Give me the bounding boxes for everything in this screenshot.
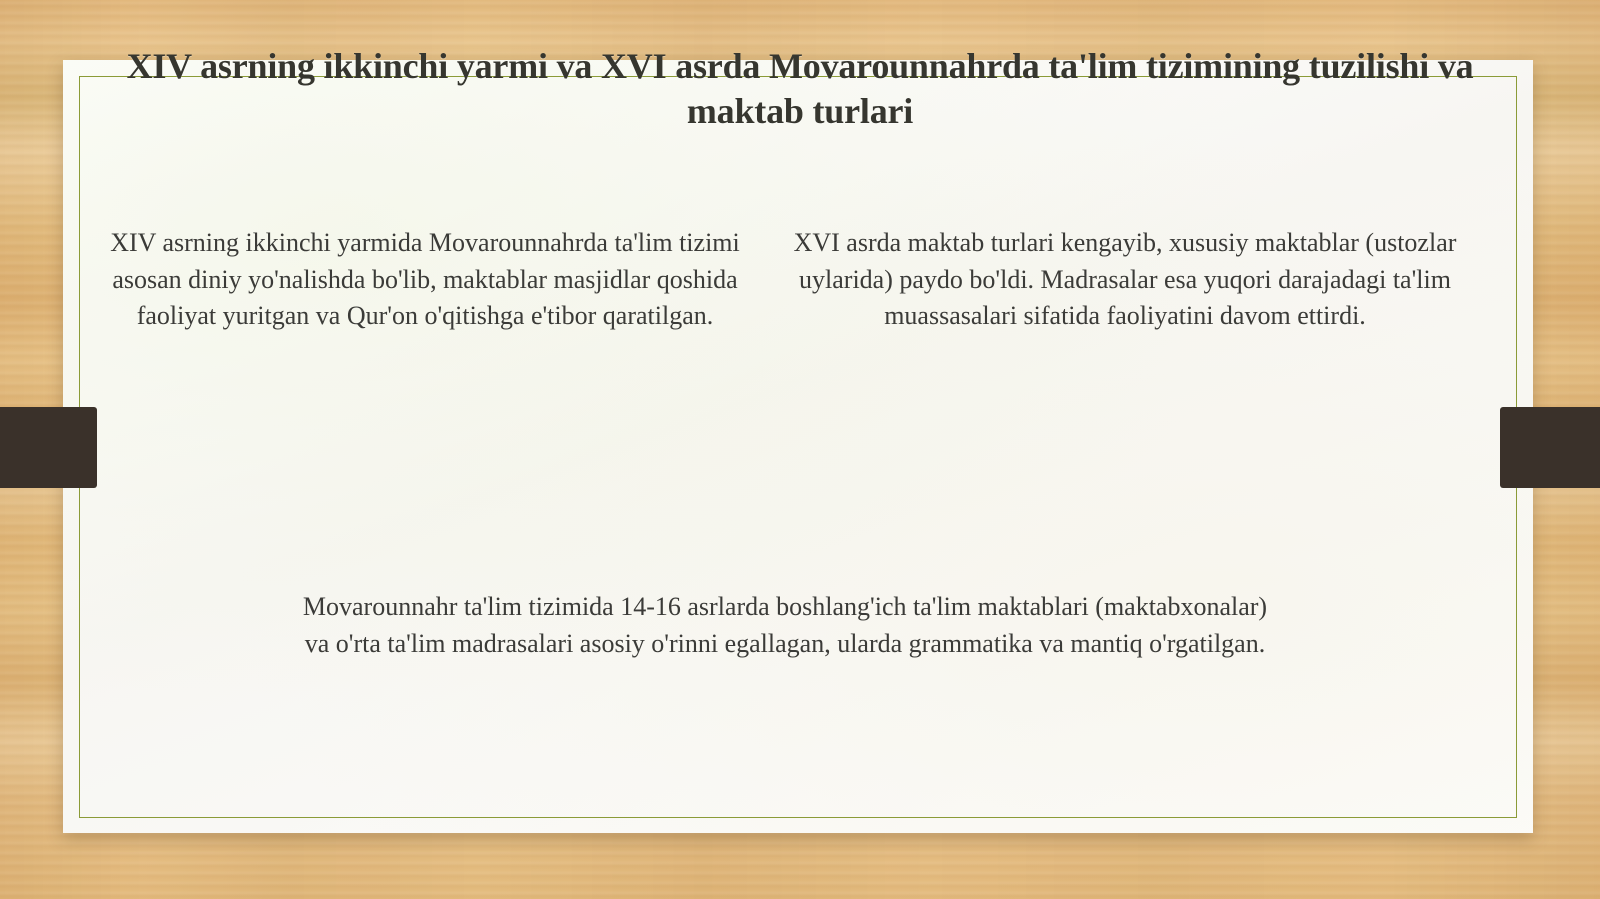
text-block-bottom: Movarounnahr ta'lim tizimida 14-16 asrla… — [290, 589, 1280, 662]
slide-title: XIV asrning ikkinchi yarmi va XVI asrda … — [120, 44, 1480, 134]
text-block-left: XIV asrning ikkinchi yarmida Movarounnah… — [105, 225, 745, 335]
right-dark-tab — [1500, 407, 1600, 488]
content-card — [63, 60, 1533, 833]
text-block-right: XVI asrda maktab turlari kengayib, xusus… — [785, 225, 1465, 335]
card-inner-border — [79, 76, 1517, 818]
left-dark-tab — [0, 407, 97, 488]
